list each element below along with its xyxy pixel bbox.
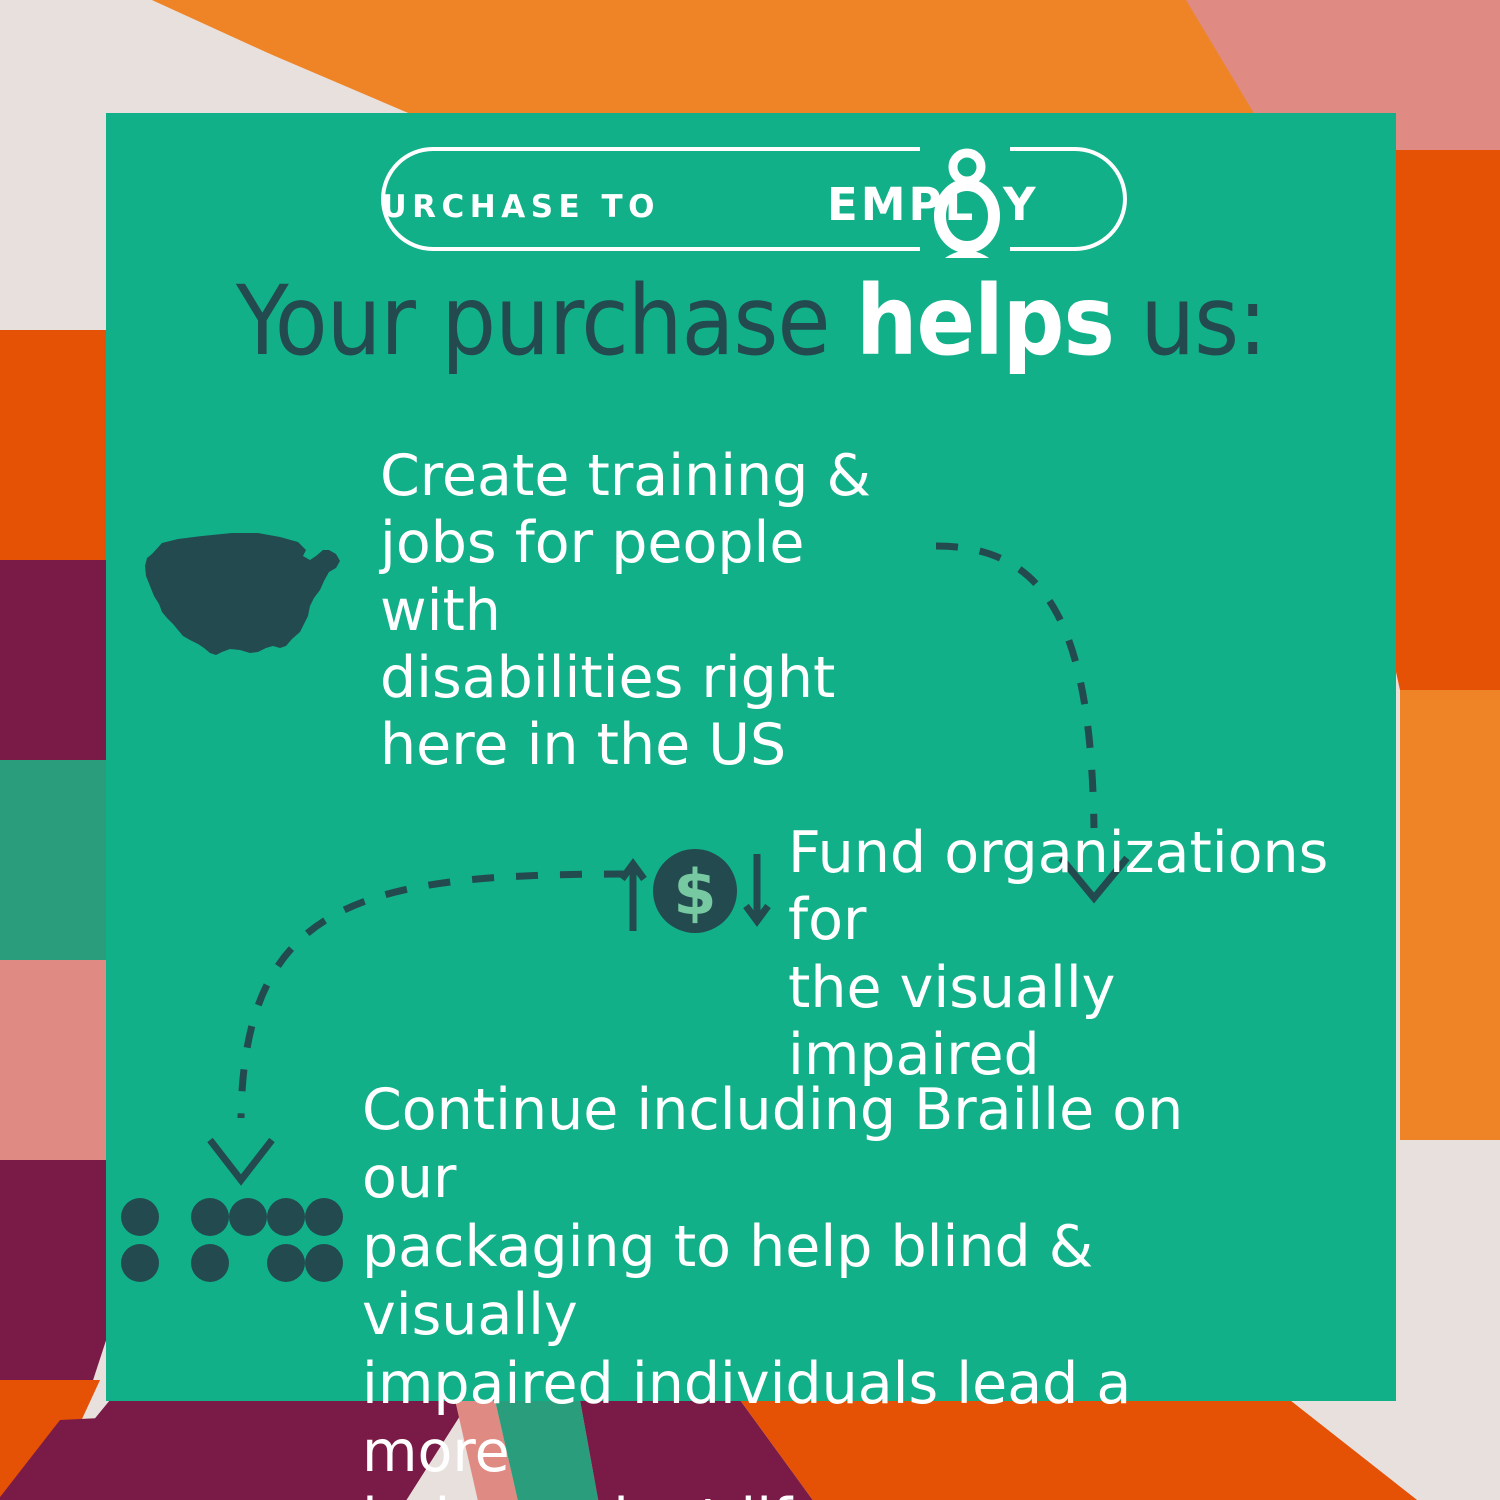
braille-dot-bottom-6 [305, 1244, 343, 1282]
braille-dot-bottom-5 [267, 1244, 305, 1282]
item-fund-line-2: the visually impaired [788, 955, 1378, 1090]
heading-highlight: helps [856, 265, 1114, 377]
braille-dot-bottom-3 [191, 1244, 229, 1282]
item-create-line-2: jobs for people with [380, 510, 910, 645]
item-braille-line-3: impaired individuals lead a more [362, 1350, 1202, 1487]
arrow2-head [210, 1140, 272, 1180]
coin-dollar-sign: $ [673, 856, 716, 929]
braille-dot-top-4 [229, 1198, 267, 1236]
infographic-canvas: PURCHASE TO EMPL Y Your purchase helps u… [0, 0, 1500, 1500]
arrow1-path [936, 546, 1094, 828]
braille-dot-top-3 [191, 1198, 229, 1236]
stripe-orange-right2 [1400, 690, 1500, 1140]
person-base-icon [945, 251, 989, 259]
item-braille-line-4: independent life [362, 1486, 1202, 1500]
item-fund-line-1: Fund organizations for [788, 820, 1378, 955]
braille-dot-top-1 [121, 1198, 159, 1236]
badge-text-empl: EMPL [827, 178, 976, 231]
braille-dots-icon [118, 1193, 348, 1283]
purchase-to-employ-badge: PURCHASE TO EMPL Y [375, 143, 1133, 258]
us-map-icon [140, 520, 350, 665]
item-create-line-3: disabilities right [380, 645, 910, 712]
item-create-line-4: here in the US [380, 712, 910, 779]
heading-part-before: Your purchase [236, 265, 856, 377]
person-head-icon [953, 153, 981, 181]
braille-dot-top-6 [305, 1198, 343, 1236]
badge-text-purchase-to: PURCHASE TO [375, 189, 660, 225]
heading-part-after: us: [1114, 265, 1266, 377]
item-braille-text: Continue including Braille on our packag… [362, 1076, 1202, 1500]
item-create-text: Create training & jobs for people with d… [380, 443, 910, 779]
braille-dot-bottom-1 [121, 1244, 159, 1282]
item-braille-line-1: Continue including Braille on our [362, 1076, 1202, 1213]
main-green-card: PURCHASE TO EMPL Y Your purchase helps u… [106, 113, 1396, 1401]
item-fund-text: Fund organizations for the visually impa… [788, 820, 1378, 1089]
badge-text-y: Y [1002, 178, 1039, 231]
item-create-line-1: Create training & [380, 443, 910, 510]
item-braille-line-2: packaging to help blind & visually [362, 1213, 1202, 1350]
braille-dot-top-5 [267, 1198, 305, 1236]
page-title: Your purchase helps us: [106, 273, 1396, 369]
